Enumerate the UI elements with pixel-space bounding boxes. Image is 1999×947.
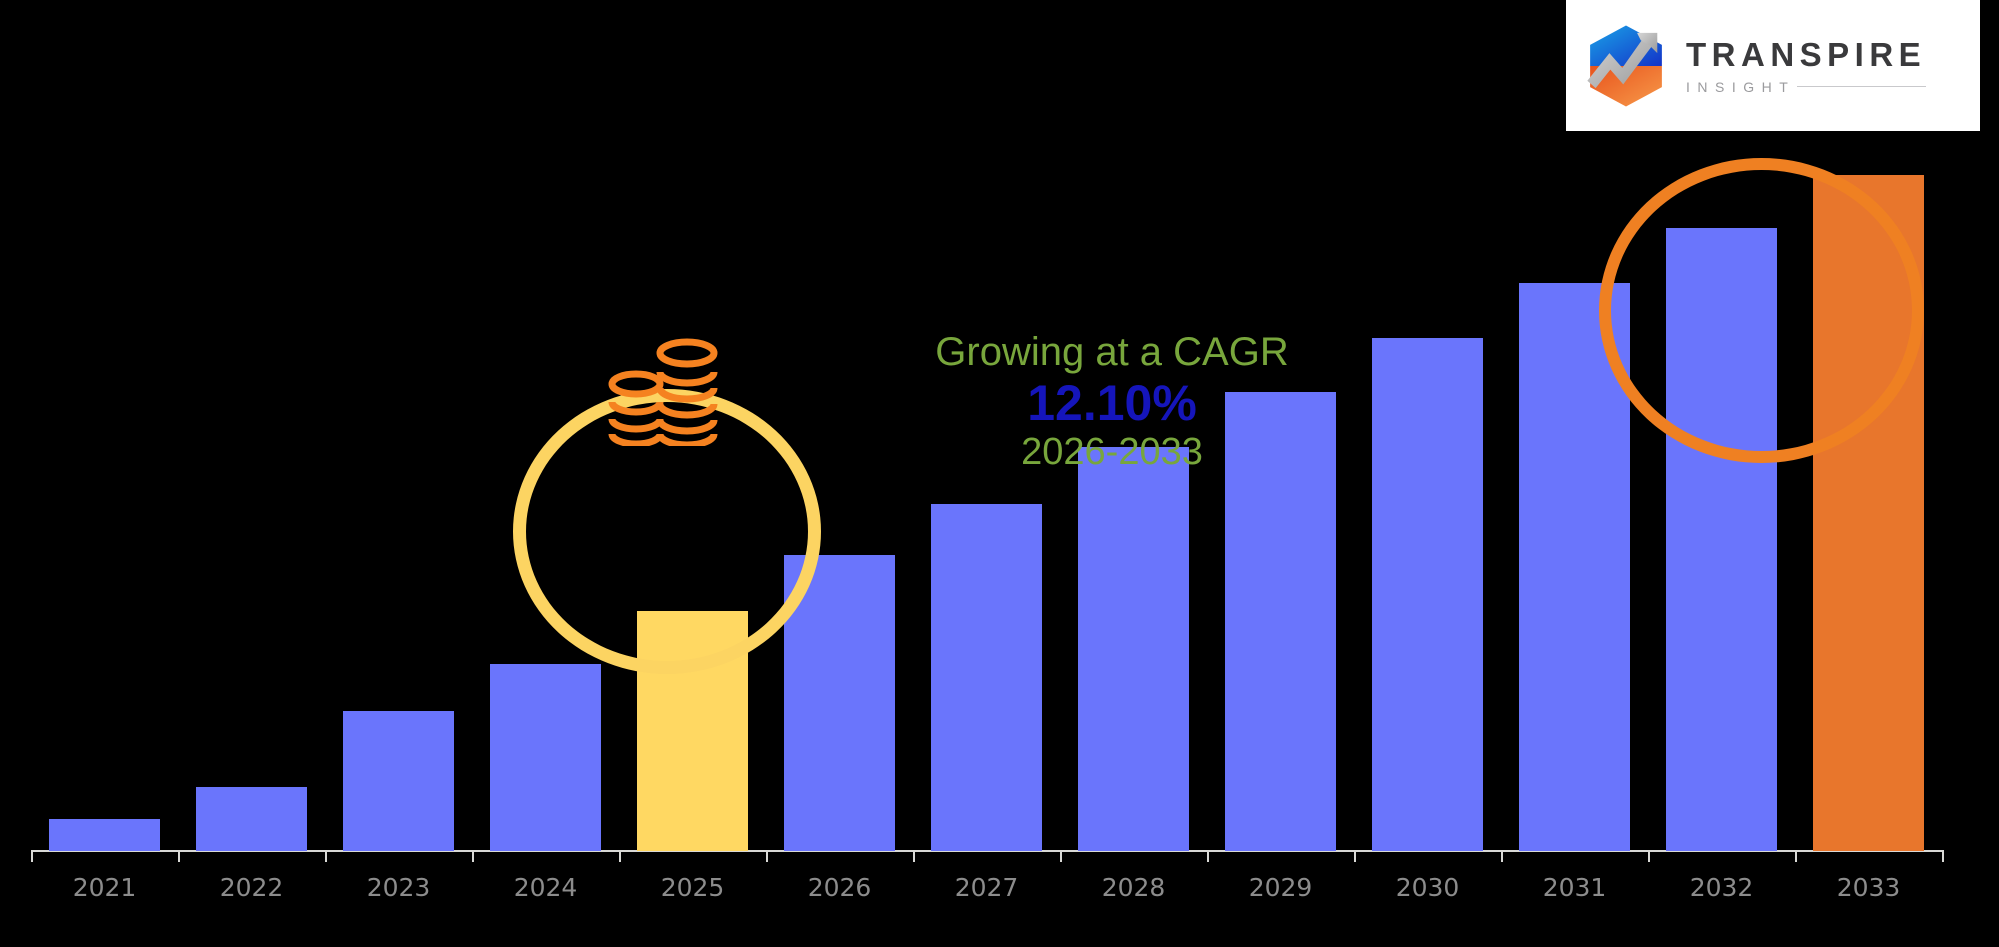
bar-plot-area: 2021202220232024202520262027202820292030… — [0, 0, 1999, 947]
x-axis-label-2024: 2024 — [472, 873, 619, 902]
tick-2030 — [1354, 851, 1356, 862]
tick-2025 — [619, 851, 621, 862]
x-axis-label-2022: 2022 — [178, 873, 325, 902]
bar-2021 — [49, 819, 160, 851]
x-axis-label-2026: 2026 — [766, 873, 913, 902]
bar-2028 — [1078, 447, 1189, 851]
logo-name: TRANSPIRE — [1686, 38, 1926, 71]
bar-2023 — [343, 711, 454, 851]
logo-divider — [1797, 86, 1926, 87]
tick-2023 — [325, 851, 327, 862]
transpire-hexagon-arrow-icon — [1580, 20, 1672, 112]
tick-2021 — [31, 851, 33, 862]
tick-2022 — [178, 851, 180, 862]
chart-canvas: 2021202220232024202520262027202820292030… — [0, 0, 1999, 947]
tick-2031 — [1501, 851, 1503, 862]
tick-2033 — [1795, 851, 1797, 862]
tick-2026 — [766, 851, 768, 862]
tick-2028 — [1060, 851, 1062, 862]
tick-2024 — [472, 851, 474, 862]
x-axis-label-2033: 2033 — [1795, 873, 1942, 902]
tick-2029 — [1207, 851, 1209, 862]
cagr-label: Growing at a CAGR — [862, 330, 1362, 375]
x-axis-label-2021: 2021 — [31, 873, 178, 902]
x-axis-label-2027: 2027 — [913, 873, 1060, 902]
x-axis-label-2029: 2029 — [1207, 873, 1354, 902]
x-axis-label-2030: 2030 — [1354, 873, 1501, 902]
x-axis-label-2025: 2025 — [619, 873, 766, 902]
tick-axis-end — [1942, 851, 1944, 862]
bar-2027 — [931, 504, 1042, 851]
coin-stack-icon — [605, 336, 725, 446]
brand-logo-card: TRANSPIRE INSIGHT — [1566, 0, 1980, 131]
tick-2027 — [913, 851, 915, 862]
cagr-value: 12.10% — [862, 375, 1362, 431]
logo-wordmark: TRANSPIRE INSIGHT — [1686, 38, 1926, 94]
bar-2022 — [196, 787, 307, 851]
orange-circle-outline — [1599, 158, 1924, 463]
cagr-period: 2026-2033 — [862, 431, 1362, 474]
logo-tagline-row: INSIGHT — [1686, 80, 1926, 94]
x-axis-label-2023: 2023 — [325, 873, 472, 902]
x-axis-label-2032: 2032 — [1648, 873, 1795, 902]
logo-tagline: INSIGHT — [1686, 80, 1795, 94]
bar-2024 — [490, 664, 601, 851]
tick-2032 — [1648, 851, 1650, 862]
x-axis-label-2028: 2028 — [1060, 873, 1207, 902]
bar-2030 — [1372, 338, 1483, 851]
x-axis-label-2031: 2031 — [1501, 873, 1648, 902]
cagr-annotation: Growing at a CAGR 12.10% 2026-2033 — [862, 330, 1362, 473]
